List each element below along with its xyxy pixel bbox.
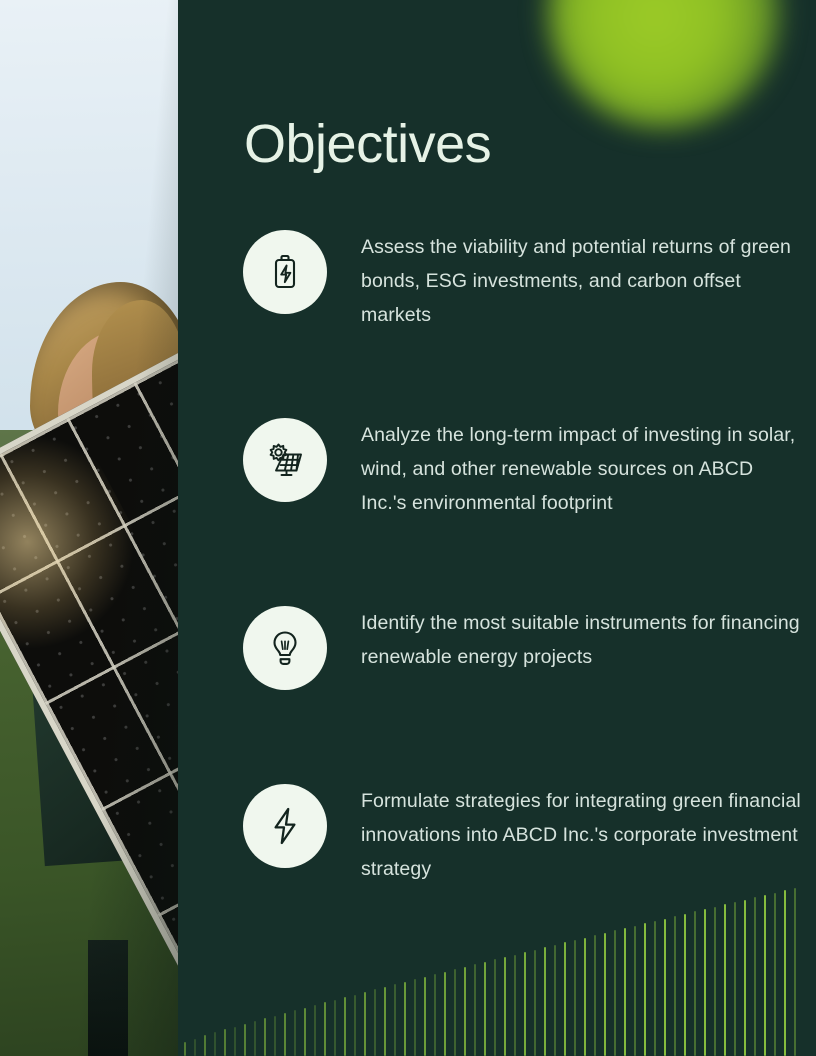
objective-text: Analyze the long-term impact of investin…	[361, 410, 803, 520]
woman-carrying-solar-panel-photo	[0, 0, 178, 1056]
objectives-list: Assess the viability and potential retur…	[243, 222, 803, 886]
slide-content: Objectives Assess the viability and pote…	[178, 0, 816, 1056]
objectives-slide: Objectives Assess the viability and pote…	[0, 0, 816, 1056]
objective-item: Identify the most suitable instruments f…	[243, 598, 803, 698]
page-title: Objectives	[244, 116, 491, 173]
objective-text: Formulate strategies for integrating gre…	[361, 776, 803, 886]
objective-item: Assess the viability and potential retur…	[243, 222, 803, 332]
objective-item: Analyze the long-term impact of investin…	[243, 410, 803, 520]
battery-charging-icon	[243, 230, 327, 314]
solar-panel-sun-icon	[243, 418, 327, 502]
lightning-bolt-icon	[243, 784, 327, 868]
objective-text: Identify the most suitable instruments f…	[361, 598, 803, 674]
objective-text: Assess the viability and potential retur…	[361, 222, 803, 332]
lightbulb-icon	[243, 606, 327, 690]
photo-vignette	[0, 0, 178, 1056]
objective-item: Formulate strategies for integrating gre…	[243, 776, 803, 886]
